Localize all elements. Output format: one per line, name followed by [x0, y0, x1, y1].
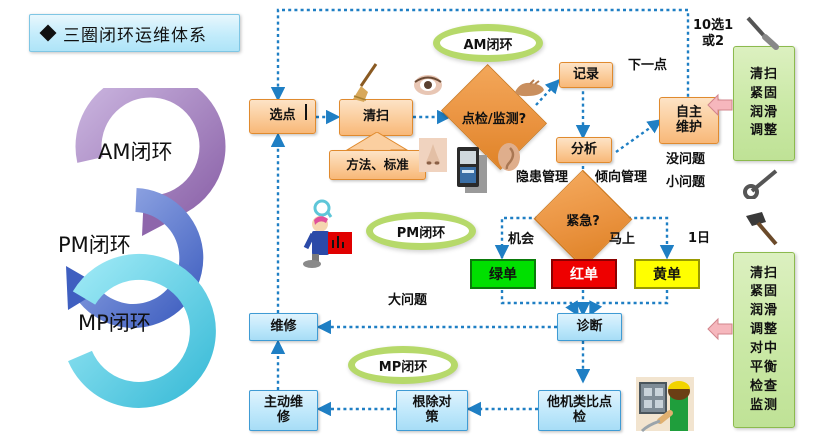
node-analyze[interactable]: 分析: [556, 137, 612, 163]
node-record-label: 记录: [573, 68, 599, 83]
node-analyze-label: 分析: [571, 143, 597, 158]
edge-label-big-problem: 大问题: [388, 293, 427, 309]
node-cleaning[interactable]: 清扫: [339, 99, 413, 136]
node-yellow-ticket-label: 黄单: [653, 264, 681, 284]
node-other-machine-check[interactable]: 他机类比点 检: [538, 390, 621, 431]
panel-bottom-right: 清扫 紧固 润滑 调整 对中 平衡 检查 监测: [733, 252, 795, 428]
loop-badge-pm: PM闭环: [366, 212, 476, 250]
panel-bottom-right-item-2: 润滑: [750, 302, 778, 321]
node-cleaning-label: 清扫: [363, 110, 389, 125]
panel-bottom-right-item-3: 调整: [750, 321, 778, 340]
wrench-icon: [742, 165, 786, 199]
edge-label-hidden-danger: 隐患管理: [516, 170, 568, 186]
panel-top-right-item-1: 紧固: [750, 85, 778, 104]
node-red-ticket-label: 红单: [570, 264, 598, 284]
worker-with-sign-icon: [300, 198, 356, 270]
edge-label-no-problem: 没问题: [666, 152, 705, 168]
left-arrow-callout-icon: [706, 316, 734, 342]
node-method-standard[interactable]: 方法、标准: [329, 150, 426, 180]
edge-label-next-point: 下一点: [628, 58, 667, 74]
panel-bottom-right-item-1: 紧固: [750, 283, 778, 302]
node-self-maintain-label: 自主 维护: [676, 106, 702, 135]
panel-bottom-right-item-4: 对中: [750, 340, 778, 359]
panel-top-right-item-0: 清扫: [750, 66, 778, 85]
node-green-ticket[interactable]: 绿单: [470, 259, 536, 289]
loop-badge-mp-label: MP闭环: [379, 356, 427, 375]
node-record[interactable]: 记录: [559, 62, 613, 88]
broom-icon: [342, 62, 386, 104]
node-active-repair-label: 主动维 修: [264, 396, 303, 425]
panel-bottom-right-item-0: 清扫: [750, 265, 778, 284]
edge-label-trend-mgmt: 倾向管理: [595, 170, 647, 186]
node-urgent-label: 紧急?: [566, 210, 600, 229]
panel-top-right: 清扫 紧固 润滑 调整: [733, 46, 795, 161]
ear-icon: [496, 142, 522, 172]
panel-top-right-item-2: 润滑: [750, 104, 778, 123]
measuring-device-icon: [455, 145, 487, 193]
node-select-point-label: 选点: [269, 109, 295, 124]
hammer-icon: [742, 210, 784, 250]
worker-at-panel-icon: [634, 375, 696, 433]
node-green-ticket-label: 绿单: [489, 264, 517, 284]
edge-label-small-problem: 小问题: [666, 175, 705, 191]
node-inspect-monitor-label: 点检/监测?: [462, 108, 526, 127]
text-cursor-icon: [305, 104, 307, 120]
node-diagnose[interactable]: 诊断: [557, 313, 622, 341]
node-repair[interactable]: 维修: [249, 313, 318, 341]
node-eradicate[interactable]: 根除对 策: [396, 390, 468, 431]
panel-bottom-right-item-6: 检查: [750, 378, 778, 397]
edge-label-immediately: 马上: [609, 232, 635, 248]
node-repair-label: 维修: [270, 320, 296, 335]
node-other-machine-check-label: 他机类比点 检: [547, 396, 612, 425]
loop-badge-am: AM闭环: [433, 24, 543, 62]
panel-top-right-item-3: 调整: [750, 122, 778, 141]
left-arrow-callout-icon: [706, 92, 734, 118]
hand-icon: [512, 76, 546, 100]
diagram-canvas: 三圈闭环运维体系 AM闭环 PM闭环 MP闭: [0, 0, 821, 437]
loop-badge-mp: MP闭环: [348, 346, 458, 384]
panel-bottom-right-item-5: 平衡: [750, 359, 778, 378]
node-method-standard-label: 方法、标准: [346, 158, 409, 172]
eye-icon: [413, 73, 443, 97]
panel-bottom-right-item-7: 监测: [750, 397, 778, 416]
node-active-repair[interactable]: 主动维 修: [249, 390, 318, 431]
node-yellow-ticket[interactable]: 黄单: [634, 259, 700, 289]
screwdriver-icon: [742, 14, 782, 50]
edge-label-one-day: 1日: [688, 231, 710, 247]
loop-badge-pm-label: PM闭环: [397, 222, 445, 241]
edge-label-opportunity: 机会: [508, 232, 534, 248]
node-eradicate-label: 根除对 策: [412, 396, 451, 425]
nose-icon: [419, 138, 447, 172]
node-diagnose-label: 诊断: [576, 320, 602, 335]
edge-label-ten-choose: 10选1 或2: [693, 18, 733, 51]
loop-badge-am-label: AM闭环: [464, 34, 513, 53]
node-red-ticket[interactable]: 红单: [551, 259, 617, 289]
